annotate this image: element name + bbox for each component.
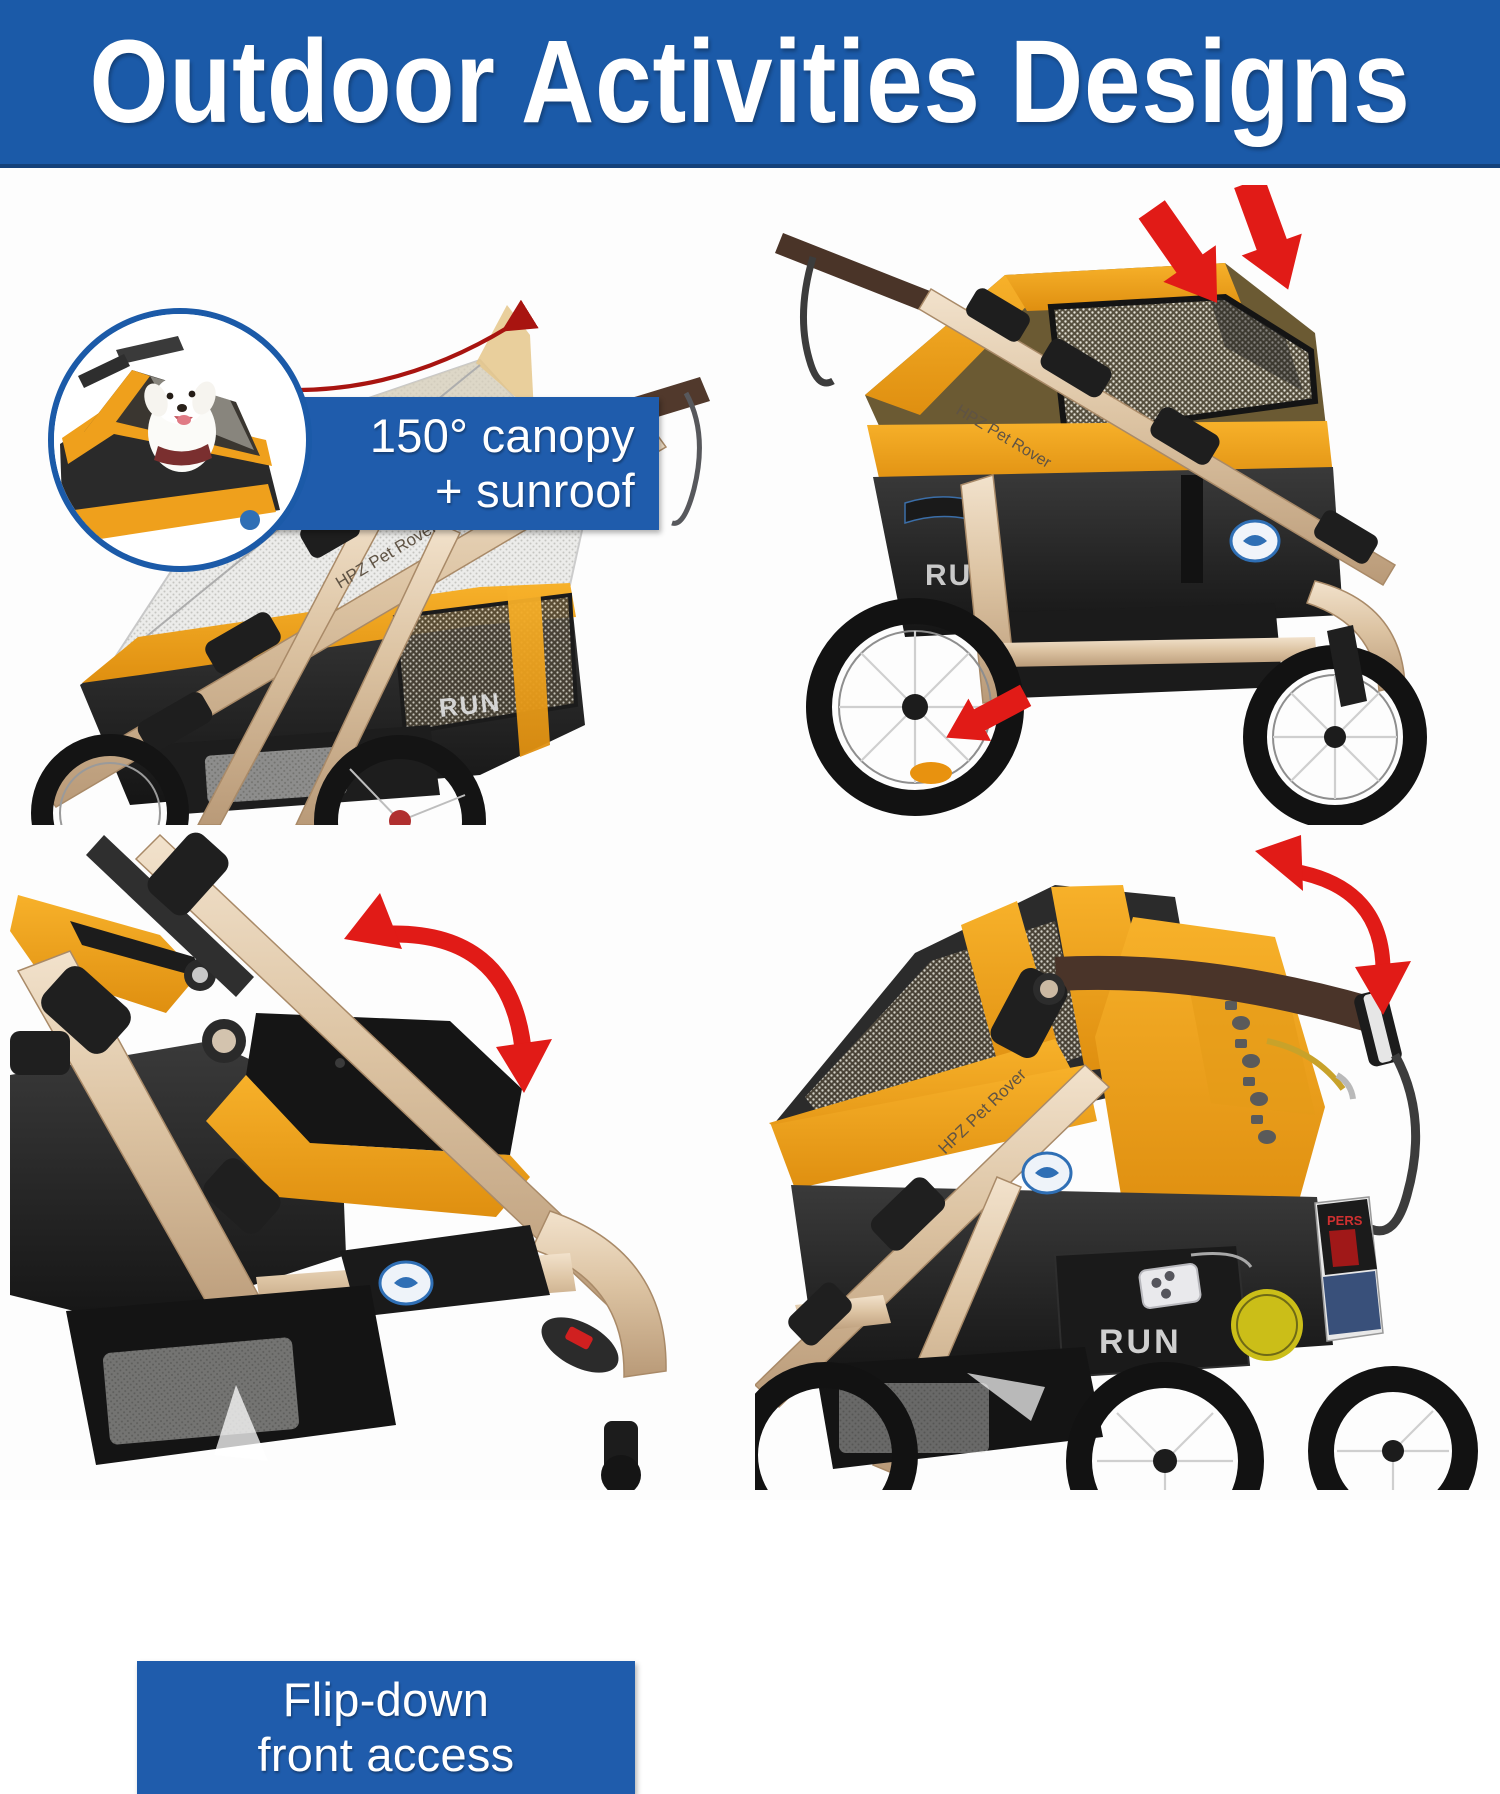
- dog-inset-circle: [48, 308, 312, 572]
- label-flip-down: Flip-down front access: [137, 1661, 635, 1794]
- label-flip-down-line1: Flip-down: [283, 1673, 489, 1728]
- page-title: Outdoor Activities Designs: [89, 23, 1410, 141]
- handlebar-product-illustration: RUN PERS: [755, 825, 1490, 1490]
- panel-flip-down: Flip-down front access: [10, 825, 740, 1490]
- label-canopy-line2: + sunroof: [435, 464, 635, 519]
- panel-reflective: RUN HPZ Pet Rover: [755, 185, 1490, 825]
- flipdown-product-illustration: [10, 825, 740, 1490]
- infographic-page: Outdoor Activities Designs: [0, 0, 1500, 1500]
- basket-brand-run: RUN: [1099, 1323, 1182, 1361]
- label-canopy-line1: 150° canopy: [370, 409, 635, 464]
- magazine-in-pocket: PERS: [1315, 1197, 1383, 1341]
- label-flip-down-line2: front access: [258, 1728, 515, 1783]
- reflective-product-illustration: RUN HPZ Pet Rover: [755, 185, 1490, 825]
- yellow-mesh-pouch: [1231, 1289, 1303, 1361]
- header-banner: Outdoor Activities Designs: [0, 0, 1500, 164]
- phone-in-pocket: [1139, 1263, 1202, 1309]
- magazine-title: PERS: [1327, 1213, 1363, 1228]
- panel-handlebar: RUN PERS: [755, 825, 1490, 1490]
- wheel-reflector: [910, 762, 952, 784]
- banner-bottom-edge: [0, 164, 1500, 168]
